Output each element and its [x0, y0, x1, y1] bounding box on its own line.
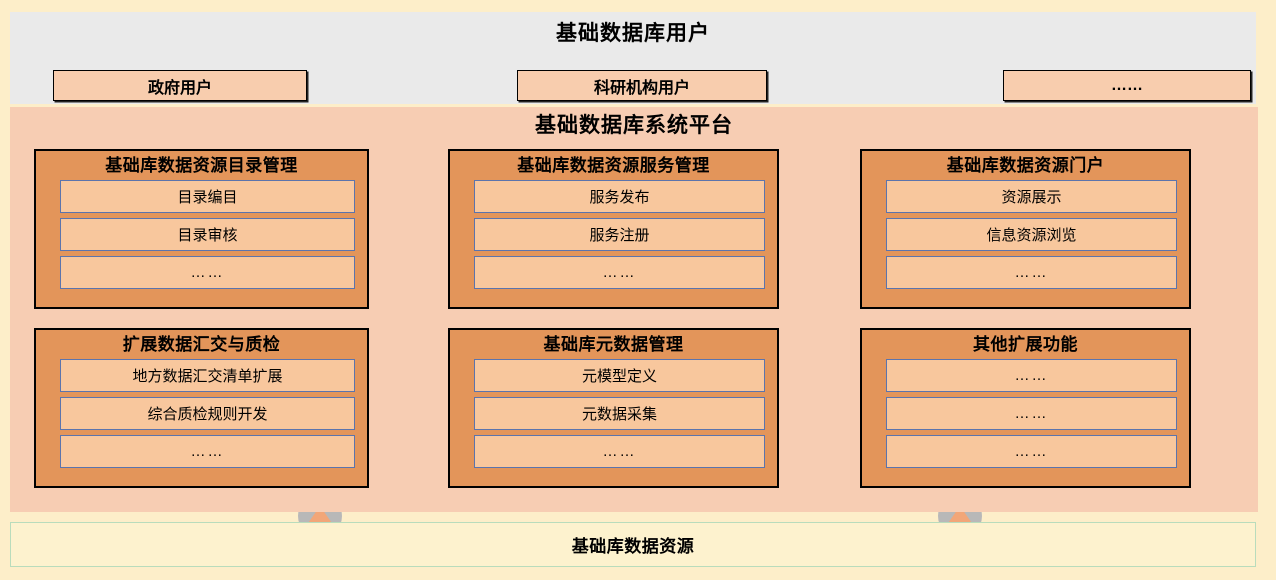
module-catalog-management[interactable]: 基础库数据资源目录管理 目录编目 目录审核 …… — [34, 149, 369, 309]
module-item[interactable]: 地方数据汇交清单扩展 — [60, 359, 355, 392]
module-item[interactable]: …… — [474, 435, 765, 468]
module-item-list: 目录编目 目录审核 …… — [36, 180, 367, 289]
module-title: 基础库数据资源服务管理 — [450, 151, 777, 180]
module-item-list: 元模型定义 元数据采集 …… — [450, 359, 777, 468]
module-item-label: …… — [603, 443, 637, 460]
user-box-label: 政府用户 — [148, 74, 212, 98]
module-row: 扩展数据汇交与质检 地方数据汇交清单扩展 综合质检规则开发 …… — [10, 328, 1258, 490]
module-item[interactable]: 元模型定义 — [474, 359, 765, 392]
module-item[interactable]: …… — [886, 397, 1177, 430]
user-box-label: …… — [1111, 77, 1143, 95]
module-item[interactable]: 服务发布 — [474, 180, 765, 213]
user-box-research-institution[interactable]: 科研机构用户 — [517, 70, 767, 101]
module-item[interactable]: 综合质检规则开发 — [60, 397, 355, 430]
module-item[interactable]: 信息资源浏览 — [886, 218, 1177, 251]
user-box-others[interactable]: …… — [1003, 70, 1251, 101]
module-item[interactable]: 目录编目 — [60, 180, 355, 213]
module-item[interactable]: …… — [886, 256, 1177, 289]
module-title: 基础库数据资源目录管理 — [36, 151, 367, 180]
module-item-label: …… — [191, 264, 225, 281]
module-item-list: 资源展示 信息资源浏览 …… — [862, 180, 1189, 289]
module-service-management[interactable]: 基础库数据资源服务管理 服务发布 服务注册 …… — [448, 149, 779, 309]
module-item[interactable]: …… — [474, 256, 765, 289]
module-item-label: 服务注册 — [589, 224, 649, 245]
user-box-label: 科研机构用户 — [594, 74, 690, 98]
module-item-list: 地方数据汇交清单扩展 综合质检规则开发 …… — [36, 359, 367, 468]
platform-layer: 基础数据库系统平台 基础库数据资源目录管理 目录编目 目录审核 …… — [10, 107, 1258, 512]
platform-layer-title: 基础数据库系统平台 — [10, 107, 1258, 137]
module-item[interactable]: 元数据采集 — [474, 397, 765, 430]
module-item-label: …… — [191, 443, 225, 460]
module-item[interactable]: 服务注册 — [474, 218, 765, 251]
module-grid: 基础库数据资源目录管理 目录编目 目录审核 …… 基础库数 — [10, 149, 1258, 507]
module-resource-portal[interactable]: 基础库数据资源门户 资源展示 信息资源浏览 …… — [860, 149, 1191, 309]
module-item-label: 目录编目 — [177, 186, 237, 207]
user-box-list: 政府用户 科研机构用户 …… — [10, 58, 1256, 92]
module-item-label: …… — [603, 264, 637, 281]
module-title: 基础库元数据管理 — [450, 330, 777, 359]
module-item[interactable]: 资源展示 — [886, 180, 1177, 213]
module-item[interactable]: …… — [60, 256, 355, 289]
module-item-label: 目录审核 — [177, 224, 237, 245]
module-item[interactable]: …… — [886, 359, 1177, 392]
module-title: 扩展数据汇交与质检 — [36, 330, 367, 359]
module-item-label: 信息资源浏览 — [986, 224, 1076, 245]
module-item-label: …… — [1015, 367, 1049, 384]
resources-layer: 基础库数据资源 — [10, 522, 1256, 567]
module-item-label: …… — [1015, 264, 1049, 281]
module-data-submission-quality[interactable]: 扩展数据汇交与质检 地方数据汇交清单扩展 综合质检规则开发 …… — [34, 328, 369, 488]
users-layer-title: 基础数据库用户 — [10, 12, 1256, 45]
users-layer: 基础数据库用户 政府用户 科研机构用户 …… — [10, 12, 1256, 104]
module-item-label: 资源展示 — [1001, 186, 1061, 207]
resources-layer-title: 基础库数据资源 — [572, 532, 695, 557]
module-item[interactable]: 目录审核 — [60, 218, 355, 251]
module-item-label: 地方数据汇交清单扩展 — [132, 365, 282, 386]
module-item-label: 元模型定义 — [582, 365, 657, 386]
module-title: 基础库数据资源门户 — [862, 151, 1189, 180]
module-other-extensions[interactable]: 其他扩展功能 …… …… …… — [860, 328, 1191, 488]
user-box-government[interactable]: 政府用户 — [53, 70, 307, 101]
module-item-label: 综合质检规则开发 — [147, 403, 267, 424]
module-item-label: …… — [1015, 443, 1049, 460]
module-title: 其他扩展功能 — [862, 330, 1189, 359]
module-row: 基础库数据资源目录管理 目录编目 目录审核 …… 基础库数 — [10, 149, 1258, 311]
module-metadata-management[interactable]: 基础库元数据管理 元模型定义 元数据采集 …… — [448, 328, 779, 488]
module-item-list: …… …… …… — [862, 359, 1189, 468]
module-item-list: 服务发布 服务注册 …… — [450, 180, 777, 289]
module-item-label: 服务发布 — [589, 186, 649, 207]
module-item[interactable]: …… — [886, 435, 1177, 468]
architecture-diagram: 基础数据库用户 政府用户 科研机构用户 …… 基础数据库系统平台 基础库数据资源… — [0, 0, 1276, 580]
module-item-label: …… — [1015, 405, 1049, 422]
module-item-label: 元数据采集 — [582, 403, 657, 424]
module-item[interactable]: …… — [60, 435, 355, 468]
